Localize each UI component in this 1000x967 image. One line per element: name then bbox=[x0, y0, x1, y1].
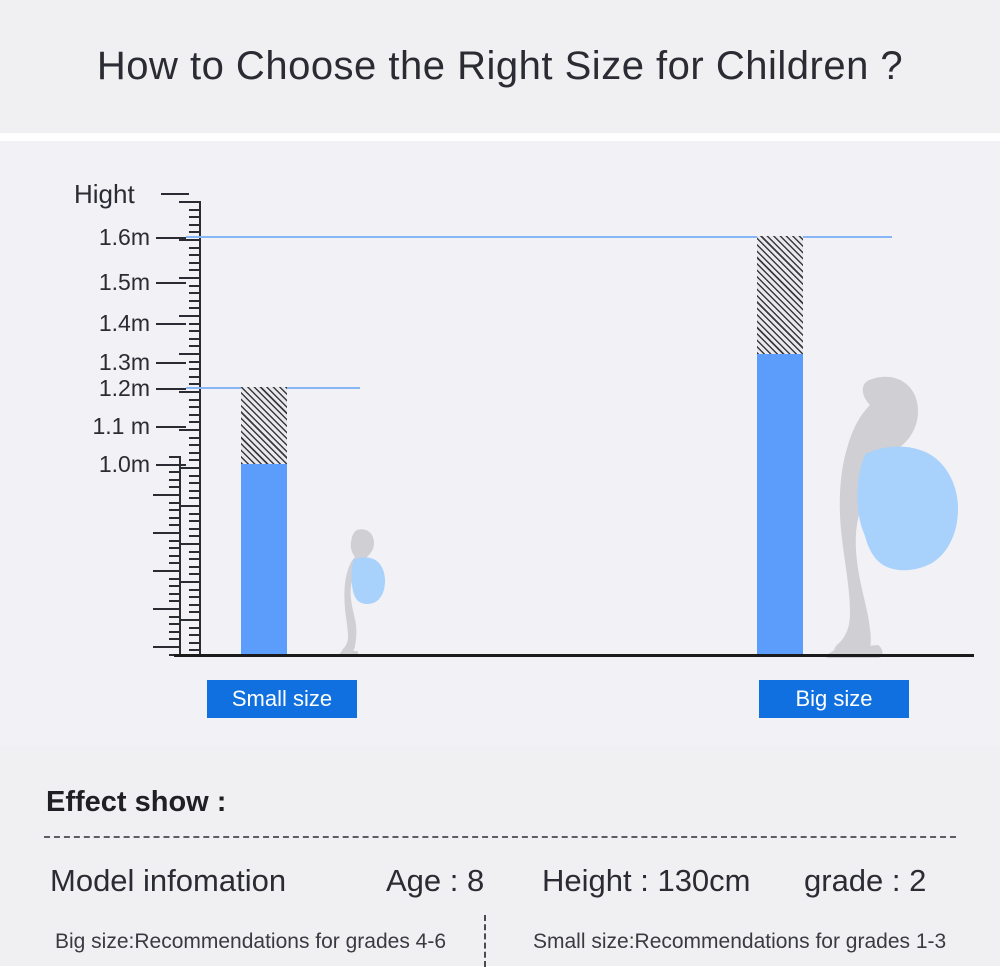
figure-child-small bbox=[305, 526, 425, 656]
footer-note-small-size: Small size:Recommendations for grades 1-… bbox=[533, 930, 946, 954]
tick-label-1-0m: 1.0m bbox=[64, 451, 150, 478]
page-title: How to Choose the Right Size for Childre… bbox=[97, 44, 903, 89]
ruler-tick bbox=[179, 315, 201, 317]
tick-label-1-3m: 1.3m bbox=[64, 349, 150, 376]
ruler-tick bbox=[179, 353, 201, 355]
ruler-tick bbox=[169, 479, 181, 481]
header-banner: How to Choose the Right Size for Childre… bbox=[0, 0, 1000, 133]
ruler-tick bbox=[189, 414, 201, 416]
ruler-tick bbox=[189, 383, 201, 385]
backpack-body-small bbox=[352, 557, 385, 604]
axis-title-dash bbox=[161, 193, 189, 195]
model-information-label: Model infomation bbox=[50, 863, 386, 899]
ruler-tick bbox=[189, 399, 201, 401]
ruler-tick bbox=[189, 285, 201, 287]
ruler-tick bbox=[179, 201, 201, 203]
footer-note-big-size: Big size:Recommendations for grades 4-6 bbox=[55, 930, 446, 954]
ruler-tick bbox=[179, 277, 201, 279]
ruler-tick bbox=[169, 464, 181, 466]
ruler-tick bbox=[189, 247, 201, 249]
ruler-scale-lower bbox=[153, 456, 201, 656]
ruler-tick bbox=[189, 216, 201, 218]
model-grade-value: grade : 2 bbox=[804, 863, 926, 899]
tick-label-1-6m: 1.6m bbox=[64, 224, 150, 251]
bar-small-hatched-segment bbox=[241, 387, 287, 464]
ruler-tick bbox=[189, 262, 201, 264]
model-age-value: Age : 8 bbox=[386, 863, 542, 899]
ruler-tick bbox=[153, 532, 181, 534]
ruler-tick bbox=[153, 646, 181, 648]
ruler-tick bbox=[169, 456, 181, 458]
ruler-tick bbox=[189, 330, 201, 332]
ruler-tick bbox=[189, 269, 201, 271]
ruler-tick bbox=[169, 517, 181, 519]
ruler-tick bbox=[189, 224, 201, 226]
ruler-tick bbox=[169, 638, 181, 640]
backpack-small bbox=[351, 557, 385, 604]
ruler-tick bbox=[169, 502, 181, 504]
figure-child-big bbox=[820, 373, 992, 658]
ruler-tick bbox=[189, 307, 201, 309]
ruler-tick bbox=[169, 600, 181, 602]
ruler-tick bbox=[189, 361, 201, 363]
ruler-tick bbox=[189, 376, 201, 378]
ruler-tick bbox=[169, 547, 181, 549]
ruler-tick bbox=[169, 623, 181, 625]
ruler-tick bbox=[189, 452, 201, 454]
ruler-tick bbox=[189, 254, 201, 256]
chart-baseline bbox=[174, 654, 974, 657]
button-small-size[interactable]: Small size bbox=[207, 680, 357, 718]
ruler-tick bbox=[179, 391, 201, 393]
ruler-tick bbox=[169, 509, 181, 511]
ruler-tick bbox=[169, 555, 181, 557]
ruler-tick bbox=[189, 444, 201, 446]
backpack-body-big bbox=[862, 447, 958, 571]
button-big-size[interactable]: Big size bbox=[759, 680, 909, 718]
ruler-tick bbox=[189, 345, 201, 347]
ruler-tick bbox=[189, 300, 201, 302]
bar-small-size bbox=[241, 387, 287, 656]
ruler-tick bbox=[179, 239, 201, 241]
chart-panel: Hight 1.6m 1.5m 1.4m 1.3m 1.2m 1.1 m 1.0… bbox=[0, 141, 1000, 745]
ruler-tick bbox=[169, 631, 181, 633]
bar-big-hatched-segment bbox=[757, 236, 803, 354]
bar-big-size bbox=[757, 236, 803, 656]
ruler-tick bbox=[189, 368, 201, 370]
ruler-tick bbox=[169, 562, 181, 564]
tick-label-1-1m: 1.1 m bbox=[64, 413, 150, 440]
ruler-tick bbox=[169, 578, 181, 580]
ruler-tick bbox=[189, 231, 201, 233]
ruler-tick bbox=[169, 540, 181, 542]
bar-big-solid-segment bbox=[757, 354, 803, 656]
ruler-tick bbox=[189, 437, 201, 439]
ruler-tick bbox=[169, 593, 181, 595]
ruler-tick bbox=[189, 421, 201, 423]
effect-show-heading: Effect show : bbox=[46, 786, 226, 819]
ruler-tick bbox=[169, 471, 181, 473]
ruler-tick bbox=[169, 486, 181, 488]
tick-label-1-5m: 1.5m bbox=[64, 269, 150, 296]
ruler-tick bbox=[189, 209, 201, 211]
dashed-divider bbox=[44, 836, 956, 838]
chart-canvas: Hight 1.6m 1.5m 1.4m 1.3m 1.2m 1.1 m 1.0… bbox=[0, 141, 1000, 745]
model-height-value: Height : 130cm bbox=[542, 863, 804, 899]
info-section: Effect show : Model infomation Age : 8 H… bbox=[0, 745, 1000, 966]
ruler-tick bbox=[153, 570, 181, 572]
backpack-big bbox=[857, 447, 958, 571]
ruler-tick bbox=[189, 406, 201, 408]
bar-small-solid-segment bbox=[241, 464, 287, 656]
ruler-tick bbox=[153, 608, 181, 610]
ruler-tick bbox=[169, 616, 181, 618]
tick-label-1-4m: 1.4m bbox=[64, 310, 150, 337]
ruler-tick bbox=[169, 585, 181, 587]
model-information-row: Model infomation Age : 8 Height : 130cm … bbox=[0, 863, 1000, 899]
ruler-tick bbox=[189, 292, 201, 294]
ruler-tick bbox=[189, 338, 201, 340]
axis-title-hight: Hight bbox=[74, 179, 135, 210]
ruler-tick bbox=[179, 429, 201, 431]
tick-label-1-2m: 1.2m bbox=[64, 375, 150, 402]
footer-vertical-divider bbox=[484, 915, 486, 967]
ruler-tick bbox=[169, 524, 181, 526]
ruler-tick bbox=[153, 494, 181, 496]
ruler-tick bbox=[189, 323, 201, 325]
